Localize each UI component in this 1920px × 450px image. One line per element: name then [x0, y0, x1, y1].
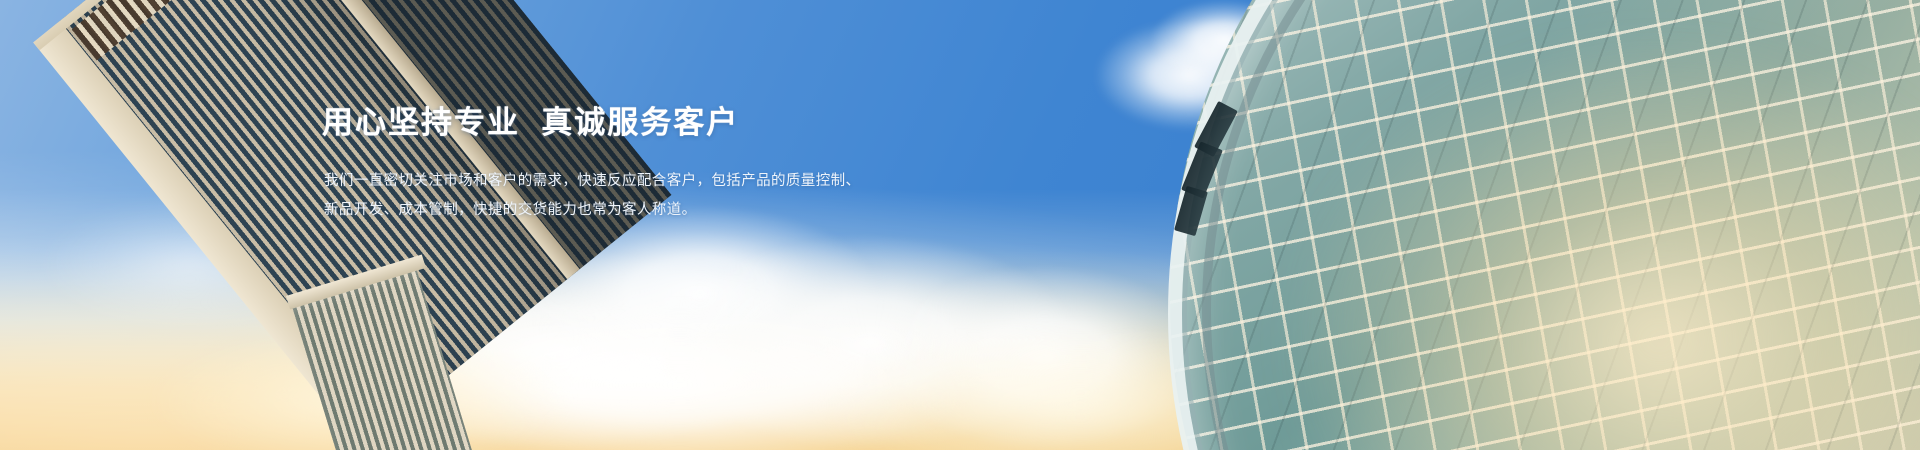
banner-subcopy: 我们一直密切关注市场和客户的需求，快速反应配合客户，包括产品的质量控制、 新品开… — [324, 167, 962, 225]
banner-subcopy-line: 我们一直密切关注市场和客户的需求，快速反应配合客户，包括产品的质量控制、 — [324, 167, 962, 196]
glass-tower-panel-lines — [1170, 0, 1920, 450]
banner-copy: 用心坚持专业 真诚服务客户 我们一直密切关注市场和客户的需求，快速反应配合客户，… — [322, 104, 962, 225]
hero-banner: 用心坚持专业 真诚服务客户 我们一直密切关注市场和客户的需求，快速反应配合客户，… — [0, 0, 1920, 450]
glass-tower-shell — [1170, 0, 1920, 450]
banner-headline: 用心坚持专业 真诚服务客户 — [322, 104, 962, 141]
banner-subcopy-line: 新品开发、成本管制，快捷的交货能力也常为客人称道。 — [324, 196, 962, 225]
